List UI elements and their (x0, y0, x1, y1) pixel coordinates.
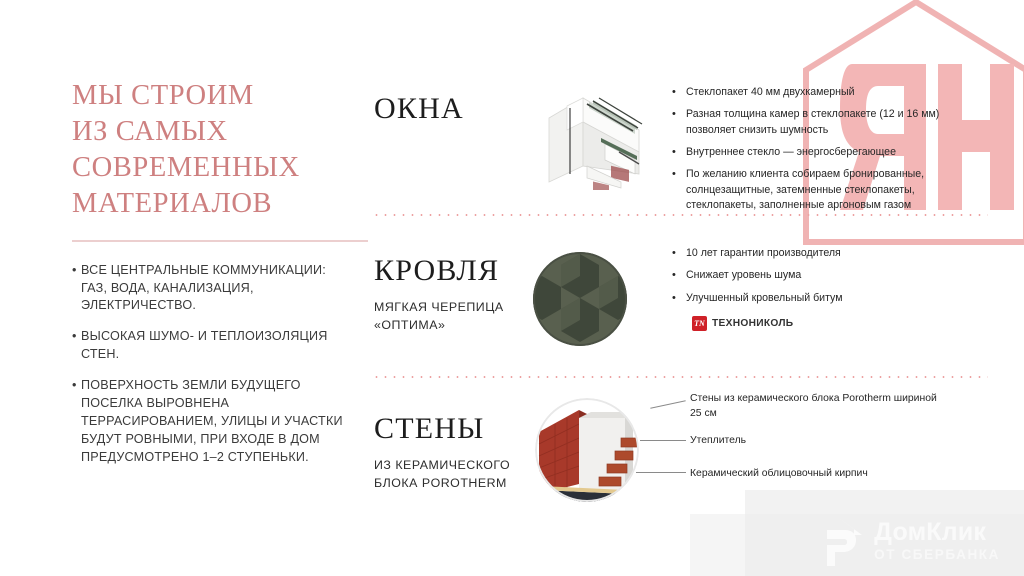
technonicol-label: ТЕХНОНИКОЛЬ (712, 318, 793, 329)
list-item: • ВСЕ ЦЕНТРАЛЬНЫЕ КОММУНИКАЦИИ: ГАЗ, ВОД… (72, 262, 372, 316)
list-item-text: Внутреннее стекло — энергосберегающее (686, 145, 896, 160)
callout-line-2 (640, 440, 686, 441)
watermark-line-1: ДомКлик (874, 520, 1000, 545)
list-item: • Разная толщина камер в стеклопакете (1… (672, 107, 972, 138)
features-list: • ВСЕ ЦЕНТРАЛЬНЫЕ КОММУНИКАЦИИ: ГАЗ, ВОД… (72, 262, 372, 467)
section-walls-heading-block: СТЕНЫ ИЗ КЕРАМИЧЕСКОГО БЛОКА POROTHERM (374, 414, 554, 492)
wall-callout-text-3: Керамический облицовочный кирпич (690, 467, 868, 482)
section-windows-heading-block: ОКНА (374, 94, 464, 124)
list-item-text: Разная толщина камер в стеклопакете (12 … (686, 107, 939, 138)
technonicol-mark-icon: TN (692, 316, 707, 331)
list-item-text: По желанию клиента собираем бронированны… (686, 167, 924, 213)
section-heading-windows: ОКНА (374, 94, 464, 124)
list-item: • Снижает уровень шума (672, 268, 972, 283)
left-column: МЫ СТРОИМ ИЗ САМЫХ СОВРЕМЕННЫХ МАТЕРИАЛО… (72, 78, 372, 479)
wall-callout-text-1: Стены из керамического блока Porotherm ш… (690, 392, 937, 422)
section-subtitle-roof: МЯГКАЯ ЧЕРЕПИЦА «ОПТИМА» (374, 299, 544, 334)
bullet-marker: • (72, 262, 81, 316)
section-roof-heading-block: КРОВЛЯ МЯГКАЯ ЧЕРЕПИЦА «ОПТИМА» (374, 256, 544, 334)
list-item-text: 10 лет гарантии производителя (686, 246, 841, 261)
list-item: • ВЫСОКАЯ ШУМО- И ТЕПЛОИЗОЛЯЦИЯ СТЕН. (72, 328, 372, 364)
list-item: • Внутреннее стекло — энергосберегающее (672, 145, 972, 160)
callout-line-1 (650, 400, 685, 408)
list-item-text: ВСЕ ЦЕНТРАЛЬНЫЕ КОММУНИКАЦИИ: ГАЗ, ВОДА,… (81, 262, 326, 316)
watermark-line-2: ОТ СБЕРБАНКА (874, 548, 1000, 562)
domclick-house-icon (807, 512, 865, 570)
bullet-marker: • (672, 85, 686, 100)
bullet-marker: • (672, 107, 686, 138)
roof-bullets: • 10 лет гарантии производителя • Снижае… (672, 246, 972, 313)
bullet-marker: • (672, 291, 686, 306)
list-item-text: Снижает уровень шума (686, 268, 801, 283)
title-divider (72, 240, 368, 242)
domclick-watermark: ДомКлик ОТ СБЕРБАНКА (807, 512, 1000, 570)
list-item-text: ПОВЕРХНОСТЬ ЗЕМЛИ БУДУЩЕГО ПОСЕЛКА ВЫРОВ… (81, 377, 343, 466)
wall-callout-text-2: Утеплитель (690, 434, 746, 449)
page-title: МЫ СТРОИМ ИЗ САМЫХ СОВРЕМЕННЫХ МАТЕРИАЛО… (72, 78, 372, 222)
list-item-text: Улучшенный кровельный битум (686, 291, 843, 306)
list-item: • ПОВЕРХНОСТЬ ЗЕМЛИ БУДУЩЕГО ПОСЕЛКА ВЫР… (72, 377, 372, 466)
bullet-marker: • (672, 246, 686, 261)
wall-cross-section-image (535, 398, 639, 502)
windows-bullets: • Стеклопакет 40 мм двухкамерный • Разна… (672, 85, 972, 221)
list-item: • Улучшенный кровельный битум (672, 291, 972, 306)
section-heading-roof: КРОВЛЯ (374, 256, 544, 286)
roof-shingle-image (533, 252, 627, 346)
technonicol-logo: TN ТЕХНОНИКОЛЬ (692, 316, 793, 331)
list-item: • По желанию клиента собираем бронирован… (672, 167, 972, 213)
list-item-text: ВЫСОКАЯ ШУМО- И ТЕПЛОИЗОЛЯЦИЯ СТЕН. (81, 328, 328, 364)
bullet-marker: • (672, 145, 686, 160)
bullet-marker: • (72, 328, 81, 364)
bullet-marker: • (672, 268, 686, 283)
list-item-text: Стеклопакет 40 мм двухкамерный (686, 85, 855, 100)
bullet-marker: • (672, 167, 686, 213)
slide-root: МЫ СТРОИМ ИЗ САМЫХ СОВРЕМЕННЫХ МАТЕРИАЛО… (0, 0, 1024, 576)
window-profile-image (543, 78, 661, 190)
list-item: • 10 лет гарантии производителя (672, 246, 972, 261)
callout-line-3 (636, 472, 686, 473)
bullet-marker: • (72, 377, 81, 466)
section-subtitle-walls: ИЗ КЕРАМИЧЕСКОГО БЛОКА POROTHERM (374, 457, 554, 492)
divider-dotted-2 (372, 376, 988, 378)
section-heading-walls: СТЕНЫ (374, 414, 554, 444)
list-item: • Стеклопакет 40 мм двухкамерный (672, 85, 972, 100)
